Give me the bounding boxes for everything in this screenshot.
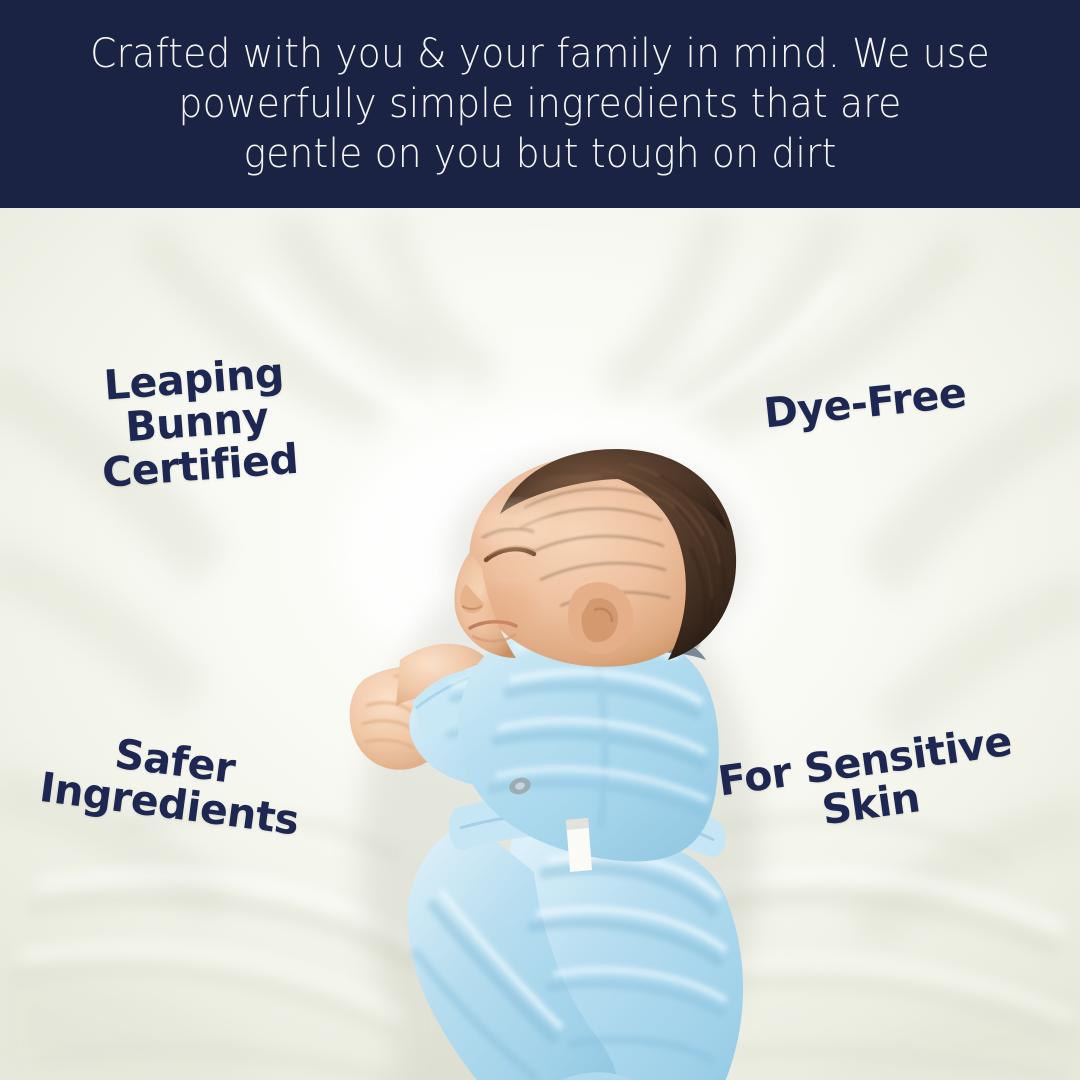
- baby-photo-illustration: [0, 208, 1080, 1080]
- baby-photo: [0, 208, 1080, 1080]
- headline-banner: Crafted with you & your family in mind. …: [0, 0, 1080, 208]
- headline-text: Crafted with you & your family in mind. …: [56, 29, 1024, 179]
- product-feature-banner: Crafted with you & your family in mind. …: [0, 0, 1080, 1080]
- photo-vignette: [0, 208, 1080, 1080]
- feature-label-leaping-bunny-certified: Leaping Bunny Certified: [58, 348, 337, 498]
